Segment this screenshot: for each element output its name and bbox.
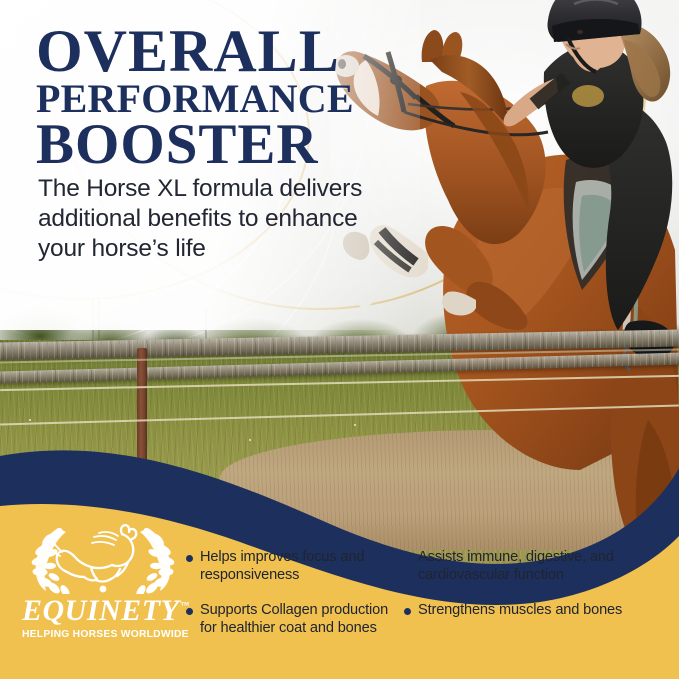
benefit-item: Supports Collagen production for healthi… <box>186 602 396 637</box>
benefit-text: Strengthens muscles and bones <box>418 602 622 620</box>
wreath-horse-logo <box>22 520 184 594</box>
benefit-text: Supports Collagen production for healthi… <box>200 602 396 637</box>
benefit-item: Strengthens muscles and bones <box>404 602 664 637</box>
brand-name: EQUINETY <box>22 594 179 627</box>
headline-line-1: OVERALL <box>36 24 436 79</box>
subheading: The Horse XL formula delivers additional… <box>38 174 368 264</box>
benefit-item: Assists immune, digestive, and cardiovas… <box>404 549 664 584</box>
bullet-dot-icon <box>404 608 411 615</box>
bullet-dot-icon <box>186 555 193 562</box>
headline-block: OVERALL PERFORMANCE BOOSTER <box>36 24 436 171</box>
brand-tagline: HELPING HORSES WORLDWIDE <box>22 629 184 640</box>
laurel-wreath-horse-icon <box>22 520 184 594</box>
brand-wordmark: EQUINETY™ <box>22 596 189 626</box>
bullet-dot-icon <box>186 608 193 615</box>
promotional-poster: OVERALL PERFORMANCE BOOSTER The Horse XL… <box>0 0 679 679</box>
brand-logo: EQUINETY™ HELPING HORSES WORLDWIDE <box>22 520 184 640</box>
benefit-item: Helps improves focus and responsiveness <box>186 549 396 584</box>
bullet-dot-icon <box>404 555 411 562</box>
headline-line-3: BOOSTER <box>36 119 436 171</box>
benefit-text: Assists immune, digestive, and cardiovas… <box>418 549 664 584</box>
benefits-list: Helps improves focus and responsiveness … <box>186 549 666 637</box>
benefit-text: Helps improves focus and responsiveness <box>200 549 396 584</box>
